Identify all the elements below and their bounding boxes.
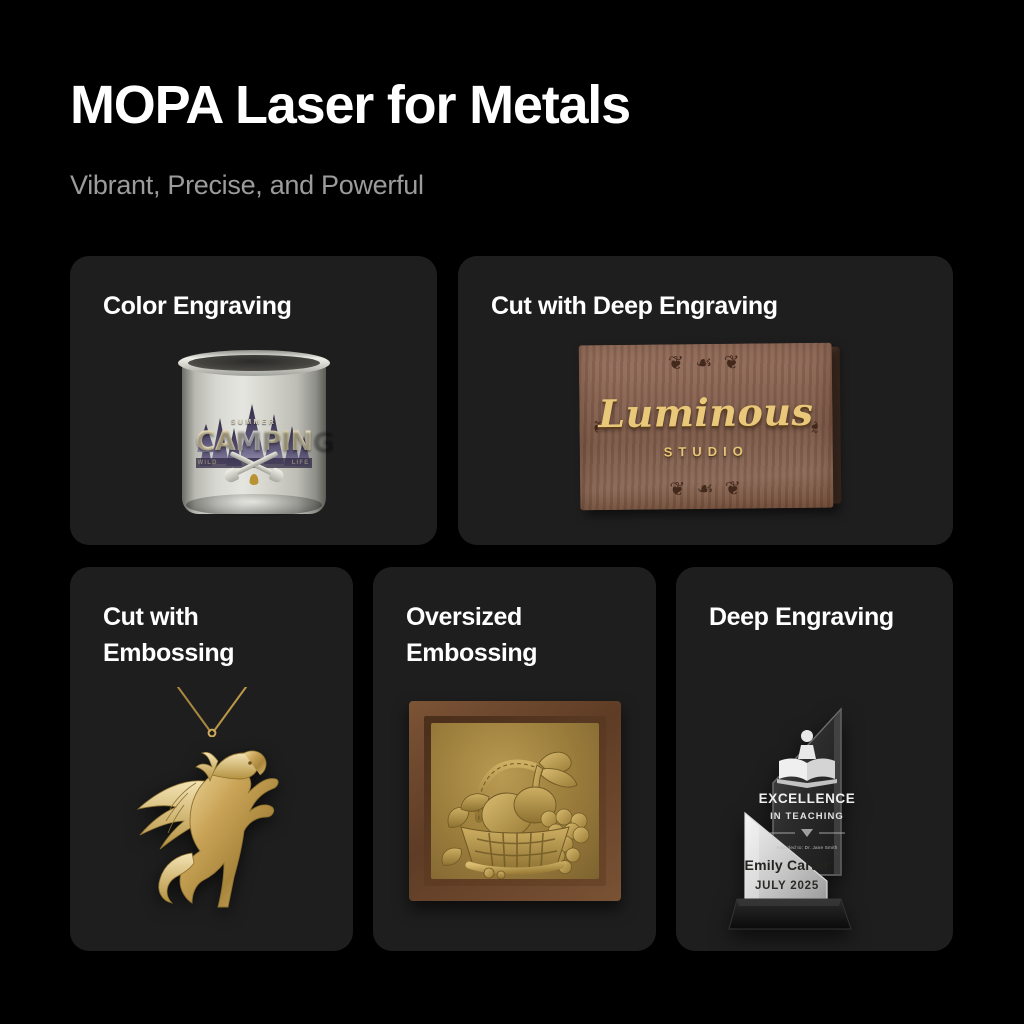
card-cut-with-deep-engraving[interactable]: Cut with Deep Engraving ❦ ☙ ❦ ❦ ☙ ❦ ❧ ❧ … (458, 256, 953, 545)
card-title-color-engraving: Color Engraving (103, 289, 291, 325)
card-color-engraving[interactable]: Color Engraving (70, 256, 437, 545)
card-deep-engraving[interactable]: Deep Engraving (676, 567, 953, 951)
page-root: MOPA Laser for Metals Vibrant, Precise, … (0, 0, 1024, 1024)
necklace-chain (176, 687, 248, 737)
card-title-deep-engraving: Deep Engraving (709, 600, 894, 636)
pegasus-figure-icon (126, 731, 298, 913)
mug-text-wild: WILD (198, 460, 218, 466)
plaque-script-text: Luminous (579, 389, 832, 437)
fruit-basket-icon (431, 723, 599, 879)
trophy-award-title: EXCELLENCE (758, 791, 855, 806)
crystal-trophy-artwork: EXCELLENCE IN TEACHING Awarded to: Dr. J… (715, 667, 915, 932)
page-title: MOPA Laser for Metals (70, 76, 630, 134)
mug-print-artwork: SUMMER CAMPING WILD LIFE (196, 388, 312, 480)
trophy-award-subtitle: IN TEACHING (770, 811, 844, 822)
mug-interior (188, 355, 320, 371)
card-title-oversized-embossing: Oversized Embossing (406, 600, 537, 671)
card-title-cut-with-deep-engraving: Cut with Deep Engraving (491, 289, 778, 325)
ornament-top-icon: ❦ ☙ ❦ (578, 353, 831, 375)
plaque-face: ❦ ☙ ❦ ❦ ☙ ❦ ❧ ❧ Luminous STUDIO (578, 343, 833, 511)
card-cut-with-embossing[interactable]: Cut with Embossing (70, 567, 353, 951)
plaque-sub-text: STUDIO (579, 443, 832, 461)
wood-plaque-artwork: ❦ ☙ ❦ ❦ ☙ ❦ ❧ ❧ Luminous STUDIO (578, 343, 833, 511)
pegasus-pendant-artwork (112, 687, 312, 917)
mug-text-summer: SUMMER (196, 419, 312, 426)
camping-mug-artwork: SUMMER CAMPING WILD LIFE (174, 344, 334, 519)
relief-panel (431, 723, 599, 879)
trophy-recipient-name: Emily Carter (744, 857, 829, 873)
trophy-date: JULY 2025 (754, 880, 818, 892)
ornament-bottom-icon: ❦ ☙ ❦ (580, 479, 833, 501)
trophy-fine-print: Awarded to: Dr. Jane Smith (776, 845, 837, 850)
campfire-flame-icon (249, 474, 258, 485)
fruit-basket-relief-artwork (409, 701, 621, 901)
card-oversized-embossing[interactable]: Oversized Embossing (373, 567, 656, 951)
mug-text-life: LIFE (292, 460, 310, 466)
page-subtitle: Vibrant, Precise, and Powerful (70, 170, 424, 201)
card-title-cut-with-embossing: Cut with Embossing (103, 600, 234, 671)
mug-base-shadow (186, 494, 322, 516)
